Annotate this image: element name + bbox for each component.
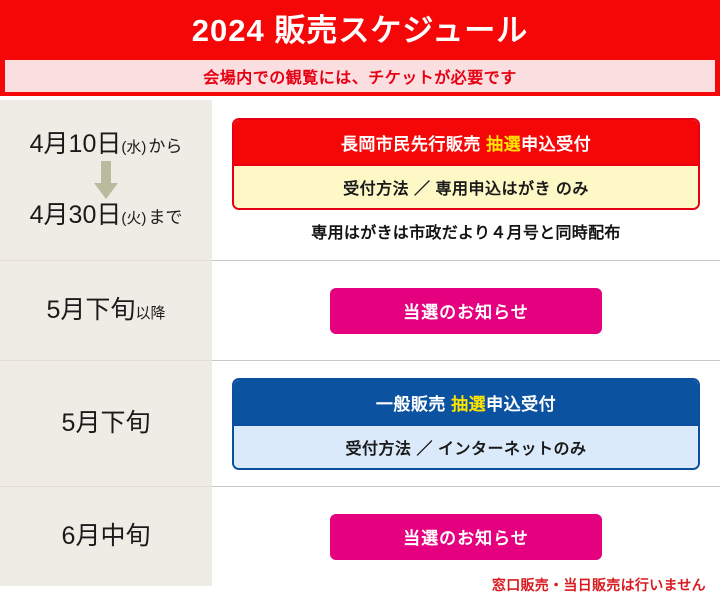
card-body-method: 受付方法 ／ 専用申込はがき のみ (234, 164, 698, 208)
schedule-row: 4月10日(水)から 4月30日(火)まで 長岡市民先行販売 抽選申込受付 受付… (0, 100, 720, 260)
date-cell: 5月下旬 (0, 360, 212, 486)
date-range-end: 4月30日(火)まで (30, 202, 183, 230)
date-label: 6月中旬 (62, 523, 151, 551)
result-notice-button[interactable]: 当選のお知らせ (330, 514, 602, 560)
lottery-card-general-sale[interactable]: 一般販売 抽選申込受付 受付方法 ／ インターネットのみ (232, 378, 700, 470)
arrow-stem (101, 161, 111, 185)
card-header-highlight: 抽選 (451, 395, 486, 414)
date-weekday: (火) (121, 210, 146, 227)
content-cell: 当選のお知らせ (212, 260, 720, 360)
card-header-pre: 長岡市民先行販売 (341, 135, 486, 154)
card-header-post: 申込受付 (486, 395, 556, 414)
card-body-method: 受付方法 ／ インターネットのみ (234, 424, 698, 468)
date-cell: 4月10日(水)から 4月30日(火)まで (0, 100, 212, 260)
date-main: 6月中旬 (62, 522, 151, 550)
date-label: 5月下旬 (62, 410, 151, 438)
subtitle-text: 会場内での観覧には、チケットが必要です (203, 64, 517, 88)
card-header-post: 申込受付 (521, 135, 591, 154)
page-title: 2024 販売スケジュール (192, 15, 528, 46)
card-header: 一般販売 抽選申込受付 (234, 380, 698, 424)
sales-schedule-infographic: 2024 販売スケジュール 会場内での観覧には、チケットが必要です 4月10日(… (0, 0, 720, 613)
date-main: 4月30日 (30, 201, 122, 229)
date-weekday: (水) (121, 139, 146, 156)
content-cell: 一般販売 抽選申込受付 受付方法 ／ インターネットのみ (212, 360, 720, 486)
content-cell: 長岡市民先行販売 抽選申込受付 受付方法 ／ 専用申込はがき のみ 専用はがきは… (212, 100, 720, 260)
schedule-row: 5月下旬以降 当選のお知らせ (0, 260, 720, 360)
date-main: 5月下旬 (62, 409, 151, 437)
date-range-start: 4月10日(水)から (30, 131, 183, 159)
card-header-pre: 一般販売 (376, 395, 451, 414)
footer: 窓口販売・当日販売は行いません (0, 575, 720, 595)
subtitle-banner: 会場内での観覧には、チケットが必要です (0, 60, 720, 96)
date-main: 5月下旬 (47, 296, 136, 324)
card-header: 長岡市民先行販売 抽選申込受付 (234, 120, 698, 164)
arrow-down-icon (89, 161, 123, 201)
schedule-table: 4月10日(水)から 4月30日(火)まで 長岡市民先行販売 抽選申込受付 受付… (0, 100, 720, 586)
footer-notice: 窓口販売・当日販売は行いません (492, 577, 706, 593)
card-note: 専用はがきは市政だより４月号と同時配布 (311, 219, 620, 243)
date-cell: 5月下旬以降 (0, 260, 212, 360)
date-suffix: まで (148, 208, 182, 227)
arrow-head (94, 183, 118, 199)
lottery-card-citizen-presale[interactable]: 長岡市民先行販売 抽選申込受付 受付方法 ／ 専用申込はがき のみ (232, 118, 700, 210)
date-cell: 6月中旬 (0, 486, 212, 586)
title-banner: 2024 販売スケジュール (0, 0, 720, 60)
content-cell: 当選のお知らせ (212, 486, 720, 586)
date-main: 4月10日 (30, 130, 122, 158)
schedule-row: 5月下旬 一般販売 抽選申込受付 受付方法 ／ インターネットのみ (0, 360, 720, 486)
date-qualifier: 以降 (135, 305, 165, 322)
card-header-highlight: 抽選 (486, 135, 521, 154)
date-suffix: から (148, 137, 182, 156)
schedule-row: 6月中旬 当選のお知らせ (0, 486, 720, 586)
date-label: 5月下旬以降 (47, 297, 166, 325)
result-notice-button[interactable]: 当選のお知らせ (330, 288, 602, 334)
